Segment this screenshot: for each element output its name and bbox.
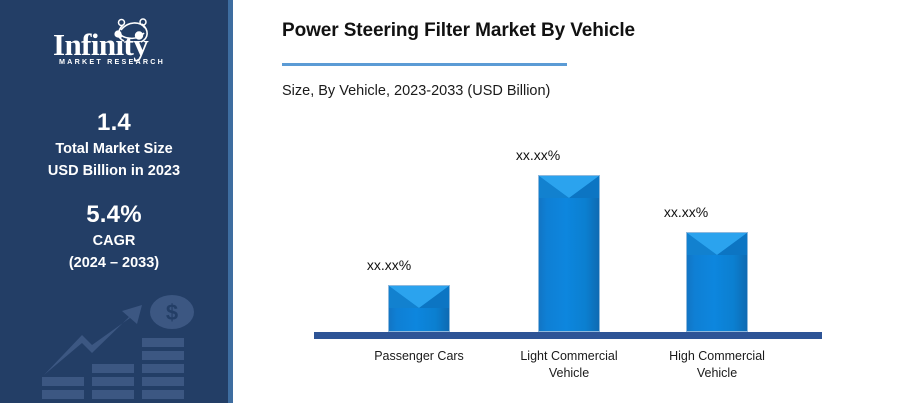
category-label-0: Passenger Cars <box>359 348 479 365</box>
svg-text:MARKET RESEARCH: MARKET RESEARCH <box>59 57 165 66</box>
bar-bevel <box>389 286 449 308</box>
x-axis-line <box>314 332 822 339</box>
market-infographic: Infinity MARKET RESEARCH 1.4 Total Marke… <box>0 0 910 403</box>
bar-2[interactable] <box>686 232 748 332</box>
stat-label-line1: CAGR <box>0 230 228 252</box>
stat-total-market-size: 1.4 Total Market Size USD Billion in 202… <box>0 108 228 182</box>
stat-value: 1.4 <box>0 108 228 138</box>
bar-0[interactable] <box>388 285 450 332</box>
stat-label-line2: (2024 – 2033) <box>0 252 228 274</box>
stat-label-line2: USD Billion in 2023 <box>0 160 228 182</box>
stat-cagr: 5.4% CAGR (2024 – 2033) <box>0 200 228 274</box>
sidebar: Infinity MARKET RESEARCH 1.4 Total Marke… <box>0 0 228 403</box>
infinity-network-icon: Infinity MARKET RESEARCH <box>39 14 189 64</box>
bar-value-label-1: xx.xx% <box>507 147 569 163</box>
bar-value-label-2: xx.xx% <box>655 204 717 220</box>
growth-bars-arrow-dollar-icon: $ <box>34 293 219 403</box>
stat-value: 5.4% <box>0 200 228 230</box>
svg-text:$: $ <box>166 300 178 325</box>
main-panel: Power Steering Filter Market By Vehicle … <box>233 0 910 403</box>
bar-value-label-0: xx.xx% <box>358 257 420 273</box>
stat-label-line1: Total Market Size <box>0 138 228 160</box>
bar-1[interactable] <box>538 175 600 332</box>
category-label-2: High Commercial Vehicle <box>657 348 777 382</box>
brand-logo: Infinity MARKET RESEARCH <box>0 14 228 69</box>
bar-bevel <box>539 176 599 198</box>
bar-bevel <box>687 233 747 255</box>
bar-chart: xx.xx% Passenger Cars xx.xx% <box>233 0 910 403</box>
category-label-1: Light Commercial Vehicle <box>509 348 629 382</box>
